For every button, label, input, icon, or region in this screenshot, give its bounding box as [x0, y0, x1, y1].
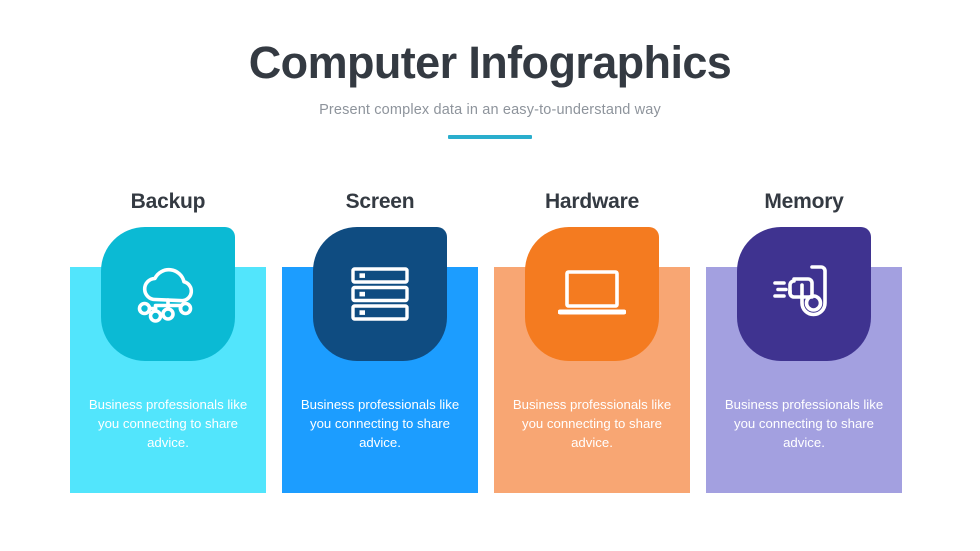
server-rack-icon — [350, 266, 410, 322]
card-backup[interactable]: Backup — [70, 188, 266, 493]
accent-divider — [448, 135, 532, 139]
card-memory[interactable]: Memory — [706, 188, 902, 493]
card-icon-tile — [525, 227, 659, 361]
infographic-slide: Computer Infographics Present complex da… — [0, 0, 980, 551]
cloud-network-icon — [135, 264, 201, 324]
card-icon-tile — [101, 227, 235, 361]
slide-header: Computer Infographics Present complex da… — [0, 38, 980, 139]
card-description: Business professionals like you connecti… — [716, 395, 892, 452]
card-icon-tile — [313, 227, 447, 361]
page-title: Computer Infographics — [0, 38, 980, 88]
laptop-icon — [558, 268, 626, 320]
usb-flash-drive-icon — [772, 263, 836, 325]
card-description: Business professionals like you connecti… — [292, 395, 468, 452]
card-description: Business professionals like you connecti… — [80, 395, 256, 452]
card-row: Backup — [70, 188, 910, 493]
card-heading: Screen — [282, 188, 478, 228]
card-heading: Memory — [706, 188, 902, 228]
card-icon-tile — [737, 227, 871, 361]
card-description: Business professionals like you connecti… — [504, 395, 680, 452]
card-screen[interactable]: Screen Business professionals like you c… — [282, 188, 478, 493]
card-heading: Backup — [70, 188, 266, 228]
card-heading: Hardware — [494, 188, 690, 228]
card-hardware[interactable]: Hardware Business professionals like you… — [494, 188, 690, 493]
page-subtitle: Present complex data in an easy-to-under… — [0, 102, 980, 118]
